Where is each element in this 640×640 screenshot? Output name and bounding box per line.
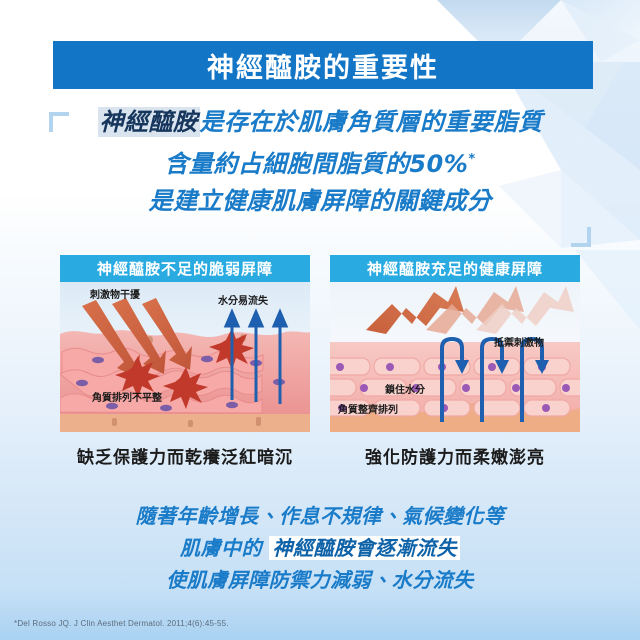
panel-weak-barrier: 神經醯胺不足的脆弱屏障 bbox=[60, 255, 310, 468]
lede-keyword: 神經醯胺 bbox=[98, 107, 200, 137]
comparison-panels: 神經醯胺不足的脆弱屏障 bbox=[0, 255, 640, 468]
outro-line-1: 隨著年齡增長、作息不規律、氣候變化等 bbox=[0, 500, 640, 532]
label-irritants: 刺激物干擾 bbox=[90, 286, 140, 301]
outro-line-2-pre: 肌膚中的 bbox=[180, 536, 262, 560]
lede-line-2-text: 含量約占細胞間脂質的50% bbox=[164, 150, 468, 178]
outro-line-2: 肌膚中的 神經醯胺會逐漸流失 bbox=[0, 532, 640, 564]
lede-line-1: 神經醯胺是存在於肌膚角質層的重要脂質 bbox=[0, 104, 640, 141]
lede-line-1-rest: 是存在於肌膚角質層的重要脂質 bbox=[200, 108, 543, 136]
lede-line-2: 含量約占細胞間脂質的50%* bbox=[0, 141, 640, 183]
panel-healthy-illustration: 抵禦刺激物 鎖住水分 角質整齊排列 bbox=[330, 282, 580, 432]
corner-bracket-bottom-right bbox=[571, 227, 591, 247]
page-title: 神經醯胺的重要性 bbox=[207, 46, 439, 85]
outro-keyword: 神經醯胺會逐漸流失 bbox=[269, 536, 460, 560]
panel-weak-illustration: 刺激物干擾 水分易流失 角質排列不平整 bbox=[60, 282, 310, 432]
lede-paragraph: 神經醯胺是存在於肌膚角質層的重要脂質 含量約占細胞間脂質的50%* 是建立健康肌… bbox=[0, 104, 640, 220]
panel-healthy-barrier: 神經醯胺充足的健康屏障 bbox=[330, 255, 580, 468]
label-water-loss: 水分易流失 bbox=[218, 292, 268, 307]
label-aligned-corneocytes: 角質整齊排列 bbox=[338, 401, 398, 416]
outro-line-3: 使肌膚屏障防禦力減弱、水分流失 bbox=[0, 564, 640, 596]
panel-weak-caption: 缺乏保護力而乾癢泛紅暗沉 bbox=[60, 443, 310, 468]
label-lock-water: 鎖住水分 bbox=[385, 381, 425, 396]
poster-canvas: 神經醯胺的重要性 神經醯胺是存在於肌膚角質層的重要脂質 含量約占細胞間脂質的50… bbox=[0, 0, 640, 640]
outro-paragraph: 隨著年齡增長、作息不規律、氣候變化等 肌膚中的 神經醯胺會逐漸流失 使肌膚屏障防… bbox=[0, 500, 640, 596]
footnote-citation: *Del Rosso JQ. J Clin Aesthet Dermatol. … bbox=[14, 619, 229, 628]
panel-healthy-caption: 強化防護力而柔嫩澎亮 bbox=[330, 443, 580, 468]
panel-weak-header: 神經醯胺不足的脆弱屏障 bbox=[60, 255, 310, 282]
footnote-marker: * bbox=[468, 152, 475, 167]
label-resist-irritants: 抵禦刺激物 bbox=[494, 334, 544, 349]
label-uneven-corneocytes: 角質排列不平整 bbox=[92, 389, 162, 404]
page-title-bar: 神經醯胺的重要性 bbox=[53, 41, 593, 89]
lede-line-3: 是建立健康肌膚屏障的關鍵成分 bbox=[0, 183, 640, 220]
panel-healthy-header: 神經醯胺充足的健康屏障 bbox=[330, 255, 580, 282]
